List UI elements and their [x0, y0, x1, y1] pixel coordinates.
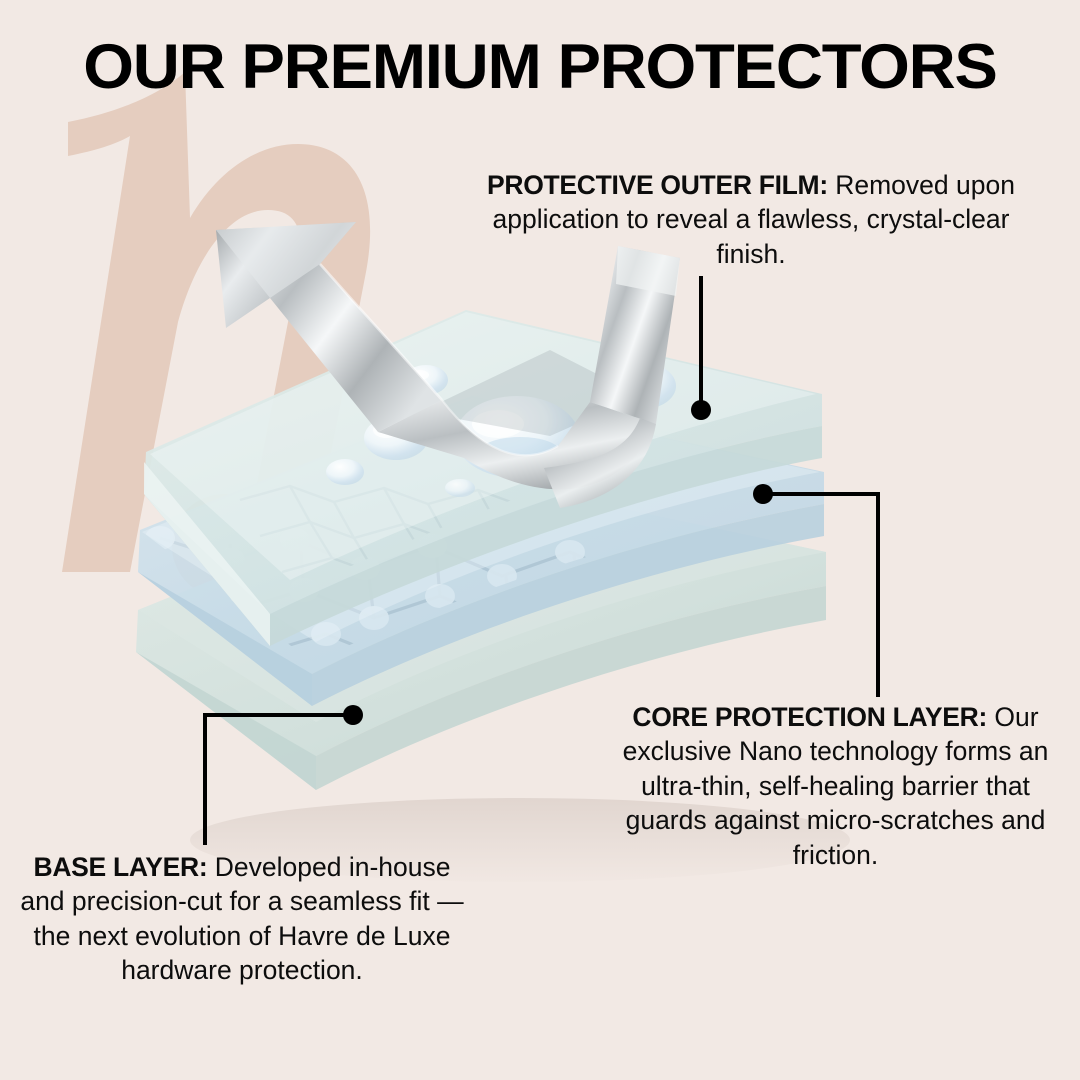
callout-outer-film-heading: PROTECTIVE OUTER FILM: — [487, 170, 828, 200]
callout-outer-film: PROTECTIVE OUTER FILM: Removed upon appl… — [470, 168, 1032, 271]
callout-core-layer: CORE PROTECTION LAYER: Our exclusive Nan… — [608, 700, 1063, 872]
callout-base-layer-heading: BASE LAYER: — [34, 852, 208, 882]
callout-core-layer-heading: CORE PROTECTION LAYER: — [632, 702, 987, 732]
infographic-canvas: OUR PREMIUM PROTECTORS — [0, 0, 1080, 1080]
callout-base-layer: BASE LAYER: Developed in-house and preci… — [14, 850, 470, 988]
page-title: OUR PREMIUM PROTECTORS — [0, 36, 1080, 99]
